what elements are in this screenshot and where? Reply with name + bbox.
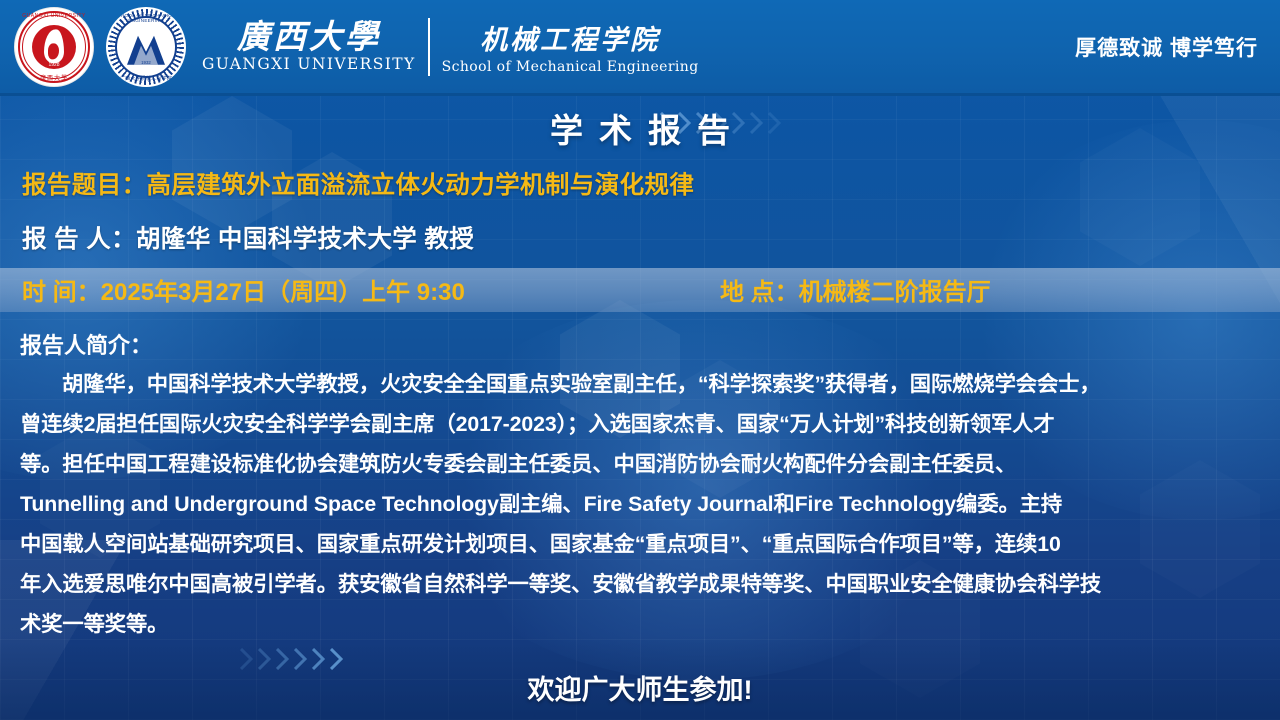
wordmark-english: GUANGXI UNIVERSITY bbox=[202, 55, 416, 73]
seal-year: 1928 bbox=[15, 62, 93, 68]
bio-line: Tunnelling and Underground Space Technol… bbox=[20, 484, 1268, 524]
poster-header: GUANGXI UNIVERSITY 1928 廣西大學 SCHOOL OF M… bbox=[0, 0, 1280, 96]
report-title-label: 报告题目： bbox=[22, 172, 147, 199]
guangxi-university-seal-icon: GUANGXI UNIVERSITY 1928 廣西大學 bbox=[14, 7, 94, 87]
university-wordmark: 廣西大學 GUANGXI UNIVERSITY 机械工程学院 School of… bbox=[202, 18, 699, 76]
report-time-row: 时 间：2025年3月27日（周四）上午 9:30 bbox=[22, 272, 465, 307]
badge-top-text: SCHOOL OF MECHANICAL ENGINEERING bbox=[106, 13, 186, 23]
school-of-mechanical-engineering-badge-icon: SCHOOL OF MECHANICAL ENGINEERING 1932 广西… bbox=[106, 7, 186, 87]
welcome-message: 欢迎广大师生参加! bbox=[0, 668, 1280, 707]
time-value: 2025年3月27日（周四）上午 9:30 bbox=[101, 279, 465, 306]
report-place-row: 地 点：机械楼二阶报告厅 bbox=[720, 272, 991, 307]
bio-line: 术奖一等奖等。 bbox=[20, 604, 1268, 644]
badge-year: 1932 bbox=[106, 60, 186, 65]
seal-bottom-text: 廣西大學 bbox=[15, 73, 93, 82]
school-name-english: School of Mechanical Engineering bbox=[442, 59, 699, 75]
bio-line: 曾连续2届担任国际火灾安全科学学会副主席（2017-2023）；入选国家杰青、国… bbox=[20, 404, 1268, 444]
speaker-value: 胡隆华 中国科学技术大学 教授 bbox=[136, 226, 474, 253]
report-speaker-row: 报 告 人：胡隆华 中国科学技术大学 教授 bbox=[22, 220, 474, 255]
report-title-row: 报告题目：高层建筑外立面溢流立体火动力学机制与演化规律 bbox=[22, 166, 694, 201]
bio-line: 年入选爱思唯尔中国高被引学者。获安徽省自然科学一等奖、安徽省教学成果特等奖、中国… bbox=[20, 564, 1268, 604]
university-motto: 厚德致诚 博学笃行 bbox=[1075, 32, 1258, 62]
bio-line: 胡隆华，中国科学技术大学教授，火灾安全全国重点实验室副主任，“科学探索奖”获得者… bbox=[20, 364, 1268, 404]
academic-lecture-poster: GUANGXI UNIVERSITY 1928 廣西大學 SCHOOL OF M… bbox=[0, 0, 1280, 720]
header-branding: GUANGXI UNIVERSITY 1928 廣西大學 SCHOOL OF M… bbox=[0, 7, 699, 87]
bio-heading: 报告人简介： bbox=[20, 328, 152, 360]
report-title-value: 高层建筑外立面溢流立体火动力学机制与演化规律 bbox=[147, 172, 695, 199]
place-label: 地 点： bbox=[720, 279, 799, 306]
bio-line: 中国载人空间站基础研究项目、国家重点研发计划项目、国家基金“重点项目”、“重点国… bbox=[20, 524, 1268, 564]
bio-line: 等。担任中国工程建设标准化协会建筑防火专委会副主任委员、中国消防协会耐火构配件分… bbox=[20, 444, 1268, 484]
place-value: 机械楼二阶报告厅 bbox=[799, 279, 991, 306]
wordmark-chinese: 廣西大學 bbox=[237, 20, 381, 55]
page-title: 学术报告 bbox=[0, 104, 1280, 152]
school-name-chinese: 机械工程学院 bbox=[480, 18, 660, 57]
seal-top-text: GUANGXI UNIVERSITY bbox=[15, 13, 93, 19]
time-label: 时 间： bbox=[22, 279, 101, 306]
bio-body: 胡隆华，中国科学技术大学教授，火灾安全全国重点实验室副主任，“科学探索奖”获得者… bbox=[20, 364, 1268, 644]
speaker-label: 报 告 人： bbox=[22, 226, 136, 253]
wordmark-divider bbox=[428, 18, 430, 76]
badge-bottom-text: 广西大学机械工程学院 bbox=[106, 75, 186, 82]
